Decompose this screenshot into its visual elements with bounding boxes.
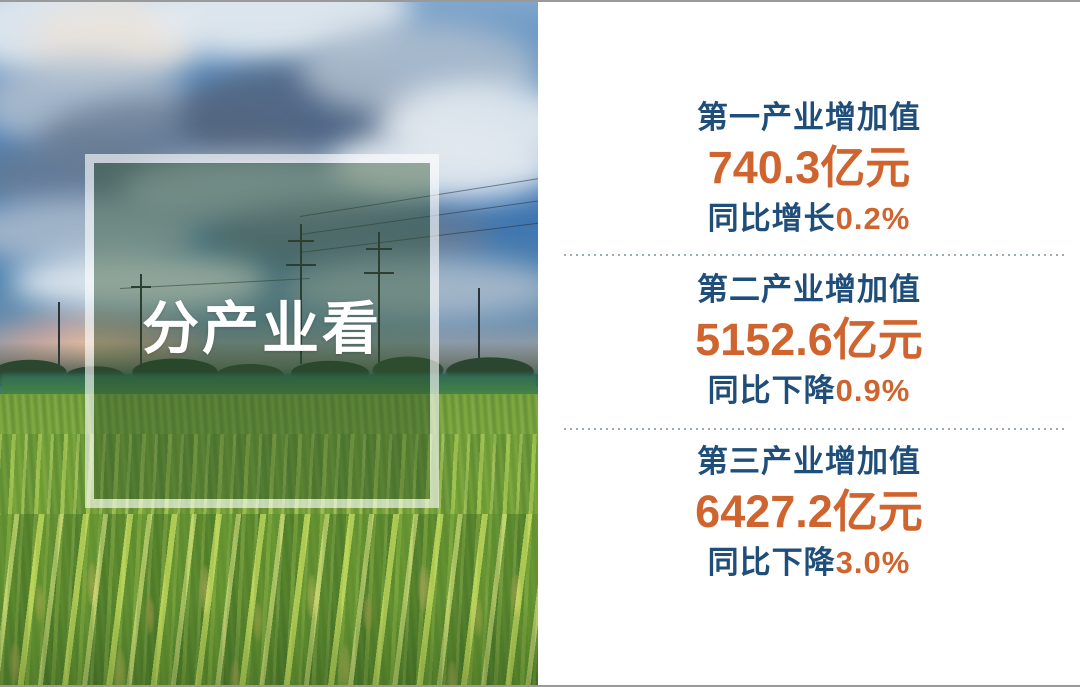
infographic-slide: 分产业看 第一产业增加值 740.3亿元 同比增长0.2% 第二产业增加值 51…	[0, 0, 1080, 687]
stat-block-tertiary-industry: 第三产业增加值 6427.2亿元 同比下降3.0%	[538, 442, 1080, 583]
stat-change: 同比下降0.9%	[538, 371, 1080, 411]
stat-change-percent: 0.9%	[836, 373, 911, 408]
stat-change-label: 同比下降	[708, 373, 836, 408]
section-divider	[562, 254, 1068, 256]
stat-block-primary-industry: 第一产业增加值 740.3亿元 同比增长0.2%	[538, 98, 1080, 239]
stat-value: 6427.2亿元	[538, 484, 1080, 540]
stat-change-percent: 0.2%	[836, 201, 911, 236]
stats-panel: 第一产业增加值 740.3亿元 同比增长0.2% 第二产业增加值 5152.6亿…	[538, 2, 1080, 687]
photo-panel: 分产业看	[0, 2, 538, 687]
stat-value: 740.3亿元	[538, 140, 1080, 196]
stat-change-label: 同比下降	[708, 545, 836, 580]
stat-title: 第二产业增加值	[538, 270, 1080, 310]
stat-change-label: 同比增长	[708, 201, 836, 236]
stat-value: 5152.6亿元	[538, 312, 1080, 368]
stat-change: 同比增长0.2%	[538, 199, 1080, 239]
stat-change-percent: 3.0%	[836, 545, 911, 580]
stat-block-secondary-industry: 第二产业增加值 5152.6亿元 同比下降0.9%	[538, 270, 1080, 411]
stat-title: 第三产业增加值	[538, 442, 1080, 482]
stat-change: 同比下降3.0%	[538, 543, 1080, 583]
page-title: 分产业看	[142, 300, 442, 360]
field-shadow	[0, 599, 538, 687]
stat-title: 第一产业增加值	[538, 98, 1080, 138]
section-divider	[562, 428, 1068, 430]
